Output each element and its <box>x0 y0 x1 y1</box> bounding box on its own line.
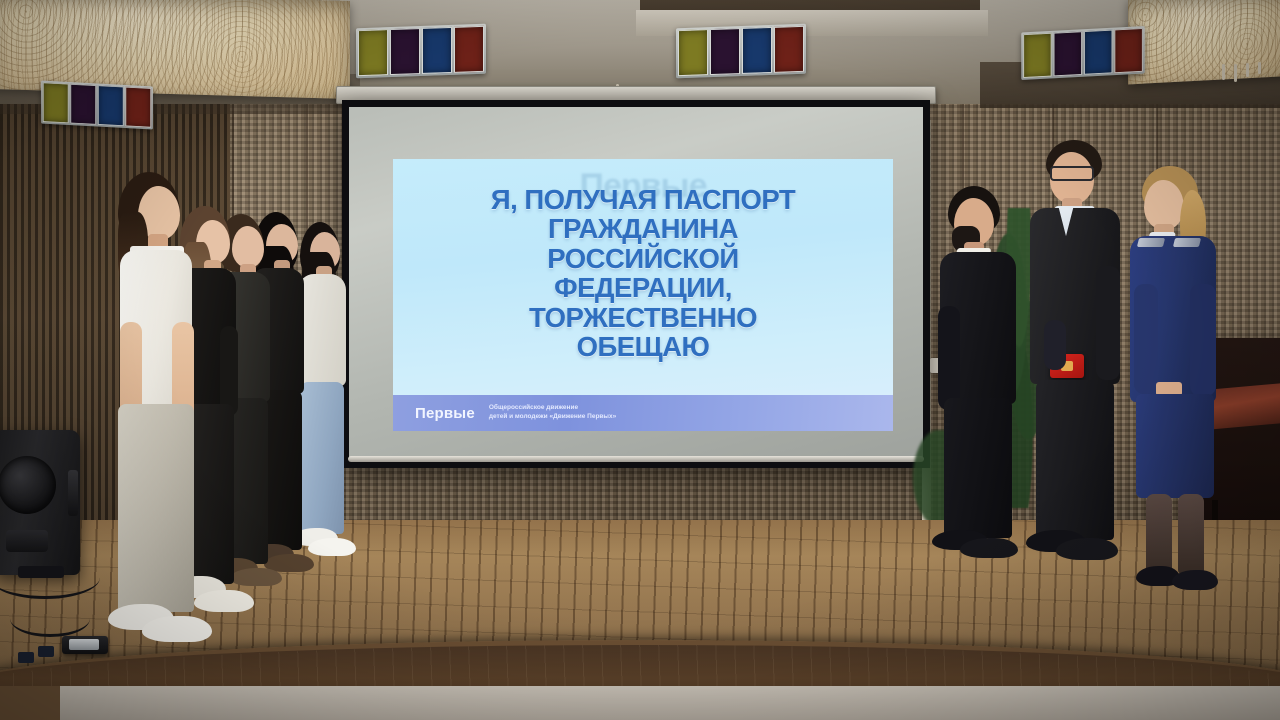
slide-line-5: ТОРЖЕСТВЕННО <box>401 303 885 332</box>
cable-plug <box>38 646 54 657</box>
movement-subtitle: Общероссийское движение детей и молодежи… <box>489 404 616 422</box>
projection-screen: Первые Я, ПОЛУЧАЯ ПАСПОРТ ГРАЖДАНИНА РОС… <box>342 100 930 468</box>
speaker-horn-icon <box>6 530 48 552</box>
pa-speaker <box>0 430 80 575</box>
shoe-right <box>1172 570 1218 590</box>
stained-glass-pane <box>125 87 151 128</box>
stained-glass-pane <box>742 27 772 74</box>
movement-subtitle-line1: Общероссийское движение <box>489 404 616 413</box>
shoe-right <box>142 616 212 642</box>
arm-left <box>1044 320 1066 370</box>
stained-glass-pane <box>70 84 96 125</box>
legs-sweatpants <box>118 404 194 612</box>
stained-glass-pane <box>1054 31 1083 76</box>
stained-glass-pane <box>774 26 804 73</box>
speaker-handle <box>68 470 78 516</box>
stained-glass-pane <box>358 29 388 76</box>
epaulette-right <box>1173 238 1201 247</box>
stained-glass-pane <box>678 29 708 76</box>
arm-right <box>1190 284 1216 396</box>
head <box>1144 180 1184 230</box>
screen-surface: Первые Я, ПОЛУЧАЯ ПАСПОРТ ГРАЖДАНИНА РОС… <box>349 107 923 461</box>
legs-trousers <box>944 398 1012 538</box>
student-1 <box>106 172 210 642</box>
cable-plug <box>18 652 34 663</box>
arm-right <box>1096 266 1120 380</box>
leg-right <box>1178 494 1204 574</box>
power-cable <box>10 600 90 637</box>
lamp-hook-icon <box>1222 64 1225 80</box>
leg-left <box>1146 494 1172 576</box>
slide-line-2: ГРАЖДАНИНА <box>401 214 885 243</box>
arm <box>220 326 238 416</box>
stained-glass-pane <box>1084 30 1113 75</box>
slide-line-3: РОССИЙСКОЙ <box>401 244 885 273</box>
stained-glass-pane <box>98 85 124 126</box>
official-1 <box>934 186 1028 566</box>
slide-line-1: Я, ПОЛУЧАЯ ПАСПОРТ <box>401 185 885 214</box>
lamp-hook-icon <box>1234 64 1237 82</box>
stained-glass-pane <box>1023 33 1052 78</box>
speaker-cone-icon <box>0 456 56 514</box>
slide-line-4: ФЕДЕРАЦИИ, <box>401 273 885 302</box>
official-2 <box>1026 140 1130 572</box>
audio-device <box>62 636 108 654</box>
stained-glass-cluster <box>356 24 486 79</box>
lamp-hook-icon <box>1246 63 1249 77</box>
scene-photo: Первые Я, ПОЛУЧАЯ ПАСПОРТ ГРАЖДАНИНА РОС… <box>0 0 1280 720</box>
stained-glass-pane <box>43 82 69 123</box>
hall-floor-left <box>0 686 60 720</box>
shoe-right <box>960 538 1018 558</box>
epaulette-left <box>1137 238 1165 247</box>
stained-glass-cluster <box>1021 26 1145 80</box>
shoe-right <box>1056 538 1118 560</box>
glasses-icon <box>1050 166 1094 181</box>
movement-subtitle-line2: детей и молодежи «Движение Первых» <box>489 413 616 422</box>
hall-floor <box>0 686 1280 720</box>
presentation-slide: Первые Я, ПОЛУЧАЯ ПАСПОРТ ГРАЖДАНИНА РОС… <box>393 159 893 431</box>
lamp-hook-icon <box>1258 62 1261 74</box>
slide-footer-banner: Первые Общероссийское движение детей и м… <box>393 395 893 431</box>
screen-bottom-bar <box>348 456 924 462</box>
movement-logo: Первые <box>415 405 475 422</box>
stained-glass-cluster <box>41 81 153 130</box>
uniform-skirt <box>1136 394 1214 498</box>
arm-left <box>938 306 960 410</box>
slide-line-6: ОБЕЩАЮ <box>401 332 885 361</box>
stained-glass-pane <box>1114 28 1143 73</box>
stained-glass-pane <box>710 28 740 75</box>
official-3 <box>1124 166 1228 596</box>
legs-trousers <box>1036 380 1114 540</box>
stained-glass-cluster <box>676 24 806 79</box>
stained-glass-pane <box>454 26 484 73</box>
arm-left <box>1134 284 1158 394</box>
stained-glass-pane <box>422 27 452 74</box>
stained-glass-pane <box>390 28 420 75</box>
slide-oath-text: Я, ПОЛУЧАЯ ПАСПОРТ ГРАЖДАНИНА РОССИЙСКОЙ… <box>401 185 885 362</box>
